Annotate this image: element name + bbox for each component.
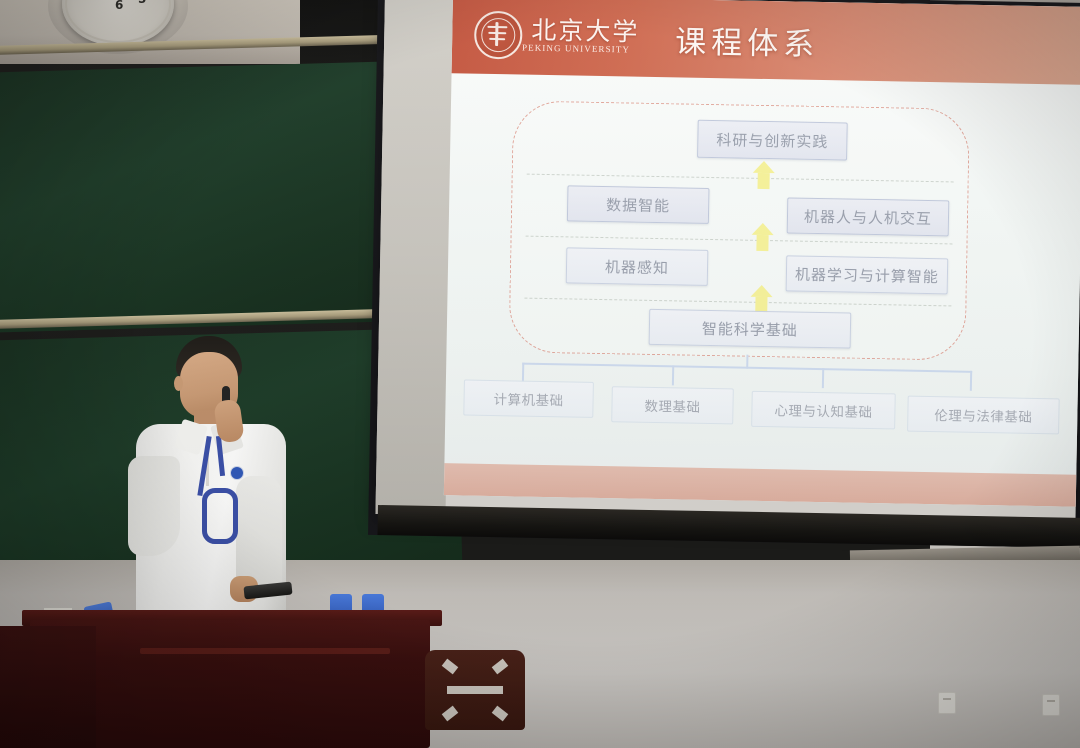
podium-left-block — [0, 626, 96, 748]
slide-header: 北京大学 PEKING UNIVERSITY 课程体系 — [452, 0, 1080, 85]
up-arrow-icon-1 — [752, 161, 775, 189]
presenter — [118, 336, 308, 648]
projection-screen: 北京大学 PEKING UNIVERSITY 课程体系 科研与创新实践 — [375, 0, 1080, 527]
foundation-box-math[interactable]: 数理基础 — [611, 386, 734, 424]
diagram-box-robotics-hci[interactable]: 机器人与人机交互 — [787, 197, 950, 236]
wooden-chair[interactable] — [425, 650, 525, 748]
screen-blank-margin — [375, 0, 455, 515]
podium-ledge — [140, 648, 390, 654]
peking-university-seal-icon — [474, 11, 523, 60]
diagram-divider-3 — [524, 298, 951, 307]
shirt-badge-icon — [230, 466, 244, 480]
foundation-box-psychology-cognition[interactable]: 心理与认知基础 — [751, 391, 896, 430]
diagram-box-intelligence-science-basics[interactable]: 智能科学基础 — [649, 309, 852, 349]
presenter-ear — [174, 376, 183, 391]
foundation-box-ethics-law[interactable]: 伦理与法律基础 — [907, 396, 1060, 435]
up-arrow-icon-2 — [751, 223, 774, 251]
wall-outlet-left[interactable] — [938, 692, 956, 714]
presenter-left-sleeve — [128, 456, 180, 556]
pku-branding: 北京大学 PEKING UNIVERSITY — [474, 11, 640, 62]
pku-name-cn: 北京大学 — [531, 18, 639, 46]
pku-name-block: 北京大学 PEKING UNIVERSITY — [522, 18, 640, 56]
presentation-slide: 北京大学 PEKING UNIVERSITY 课程体系 科研与创新实践 — [444, 0, 1080, 507]
diagram-box-machine-learning[interactable]: 机器学习与计算智能 — [786, 255, 949, 294]
diagram-divider-1 — [527, 174, 954, 183]
diagram-box-data-intelligence[interactable]: 数据智能 — [567, 185, 710, 224]
diagram-box-research-innovation[interactable]: 科研与创新实践 — [697, 120, 848, 161]
pku-name-en: PEKING UNIVERSITY — [522, 44, 639, 56]
slide-footer-band — [444, 463, 1076, 507]
foundation-box-computer[interactable]: 计算机基础 — [463, 380, 594, 418]
seal-glyph — [487, 22, 507, 46]
chair-backrest-cutout — [443, 662, 507, 718]
diagram-box-machine-perception[interactable]: 机器感知 — [566, 247, 709, 286]
lecture-hall-scene: 8 7 6 5 4 — [0, 0, 1080, 748]
up-arrow-icon-3 — [750, 285, 773, 313]
lanyard-loop — [202, 488, 238, 544]
wall-outlet-right[interactable] — [1042, 694, 1060, 716]
diagram-divider-2 — [526, 236, 953, 245]
slide-title: 课程体系 — [675, 16, 820, 64]
